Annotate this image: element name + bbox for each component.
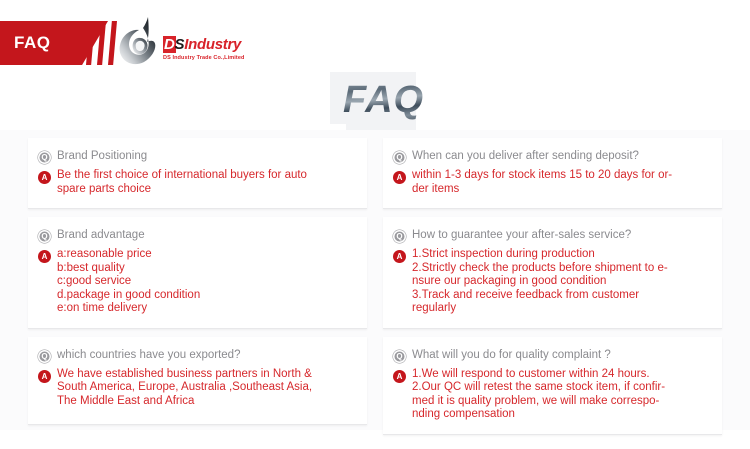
question-badge-icon: Q <box>393 151 406 164</box>
answer-badge-icon: A <box>38 370 51 383</box>
answer-badge-icon: A <box>393 370 406 383</box>
faq-card[interactable]: Q How to guarantee your after-sales serv… <box>383 217 722 329</box>
question-text: How to guarantee your after-sales servic… <box>412 228 631 243</box>
answer-text: Be the first choice of international buy… <box>57 169 307 196</box>
page-header: FAQ <box>0 0 750 78</box>
question-text: which countries have you exported? <box>57 348 240 363</box>
question-badge-icon: Q <box>393 350 406 363</box>
answer-badge-icon: A <box>393 171 406 184</box>
answer-row: A Be the first choice of international b… <box>38 169 357 196</box>
faq-grid: Q Brand Positioning A Be the first choic… <box>28 138 722 435</box>
answer-badge-icon: A <box>393 250 406 263</box>
question-row: Q How to guarantee your after-sales serv… <box>393 228 712 243</box>
answer-text: We have established business partners in… <box>57 368 312 409</box>
question-badge-icon: Q <box>393 230 406 243</box>
answer-badge-icon: A <box>38 171 51 184</box>
banner-stripe-3 <box>108 21 117 65</box>
question-row: Q which countries have you exported? <box>38 348 357 363</box>
answer-row: A We have established business partners … <box>38 368 357 409</box>
question-text: What will you do for quality complaint ? <box>412 348 611 363</box>
question-badge-icon: Q <box>38 151 51 164</box>
faq-card[interactable]: Q When can you deliver after sending dep… <box>383 138 722 209</box>
question-text: Brand Positioning <box>57 149 147 164</box>
answer-row: A a:reasonable price b:best quality c:go… <box>38 248 357 316</box>
logo-text: DSIndustry DS Industry Trade Co.,Limited <box>163 36 293 62</box>
answer-text: 1.We will respond to customer within 24 … <box>412 368 665 422</box>
faq-page: FAQ <box>0 0 750 449</box>
question-row: Q When can you deliver after sending dep… <box>393 149 712 164</box>
faq-card[interactable]: Q What will you do for quality complaint… <box>383 337 722 435</box>
logo-name-rest: Industry <box>184 36 241 53</box>
answer-text: within 1-3 days for stock items 15 to 20… <box>412 169 672 196</box>
faq-card[interactable]: Q which countries have you exported? A W… <box>28 337 367 425</box>
logo-tagline: DS Industry Trade Co.,Limited <box>163 54 293 62</box>
faq-card[interactable]: Q Brand Positioning A Be the first choic… <box>28 138 367 209</box>
answer-badge-icon: A <box>38 250 51 263</box>
logo-letter-s: S <box>175 36 185 53</box>
question-row: Q Brand Positioning <box>38 149 357 164</box>
answer-row: A 1.We will respond to customer within 2… <box>393 368 712 422</box>
banner-label: FAQ <box>14 32 50 54</box>
ds-swirl-logo-icon <box>118 16 164 66</box>
faq-column-left: Q Brand Positioning A Be the first choic… <box>28 138 367 435</box>
question-row: Q What will you do for quality complaint… <box>393 348 712 363</box>
question-row: Q Brand advantage <box>38 228 357 243</box>
faq-content-panel: Q Brand Positioning A Be the first choic… <box>0 130 750 430</box>
answer-text: a:reasonable price b:best quality c:good… <box>57 248 200 316</box>
answer-row: A within 1-3 days for stock items 15 to … <box>393 169 712 196</box>
answer-text: 1.Strict inspection during production 2.… <box>412 248 668 316</box>
question-text: Brand advantage <box>57 228 145 243</box>
question-text: When can you deliver after sending depos… <box>412 149 639 164</box>
question-badge-icon: Q <box>38 230 51 243</box>
faq-column-right: Q When can you deliver after sending dep… <box>383 138 722 435</box>
question-badge-icon: Q <box>38 350 51 363</box>
faq-card[interactable]: Q Brand advantage A a:reasonable price b… <box>28 217 367 329</box>
faq-banner: FAQ <box>0 21 120 65</box>
page-title: FAQ <box>343 78 424 122</box>
logo-name: DSIndustry <box>163 36 293 53</box>
answer-row: A 1.Strict inspection during production … <box>393 248 712 316</box>
